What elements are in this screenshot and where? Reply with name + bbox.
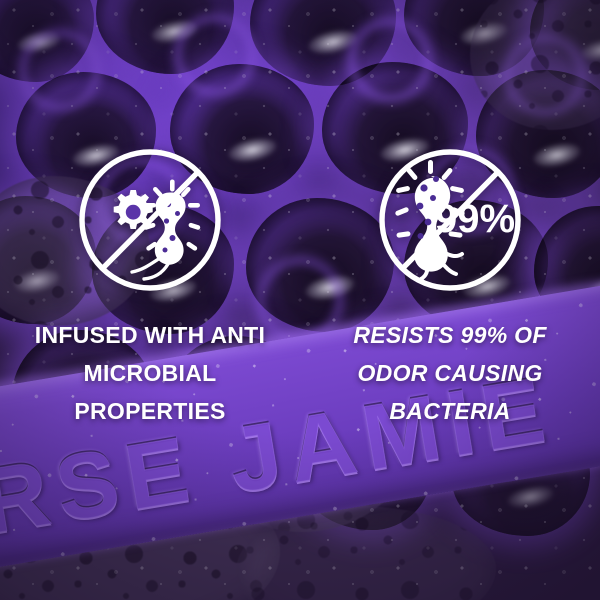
feature-antimicrobial: INFUSED WITH ANTI MICROBIAL PROPERTIES <box>0 0 300 600</box>
caption-line: INFUSED WITH ANTI <box>35 316 265 354</box>
no-microbe-gear-icon <box>76 146 224 294</box>
caption-odor-resistance: RESISTS 99% OF ODOR CAUSING BACTERIA <box>353 316 546 430</box>
feature-row: INFUSED WITH ANTI MICROBIAL PROPERTIES <box>0 0 600 600</box>
caption-line: PROPERTIES <box>35 392 265 430</box>
caption-line: BACTERIA <box>353 392 546 430</box>
feature-odor-resistance: 99% RESISTS 99% OF ODOR CAUSING BACTERIA <box>300 0 600 600</box>
caption-line: RESISTS 99% OF <box>353 316 546 354</box>
feature-graphic: RSE JAMIE <box>0 0 600 600</box>
caption-line: MICROBIAL <box>35 354 265 392</box>
percent-label: 99% <box>435 197 515 241</box>
no-bacteria-99-icon: 99% <box>376 146 524 294</box>
caption-antimicrobial: INFUSED WITH ANTI MICROBIAL PROPERTIES <box>35 316 265 430</box>
caption-line: ODOR CAUSING <box>353 354 546 392</box>
